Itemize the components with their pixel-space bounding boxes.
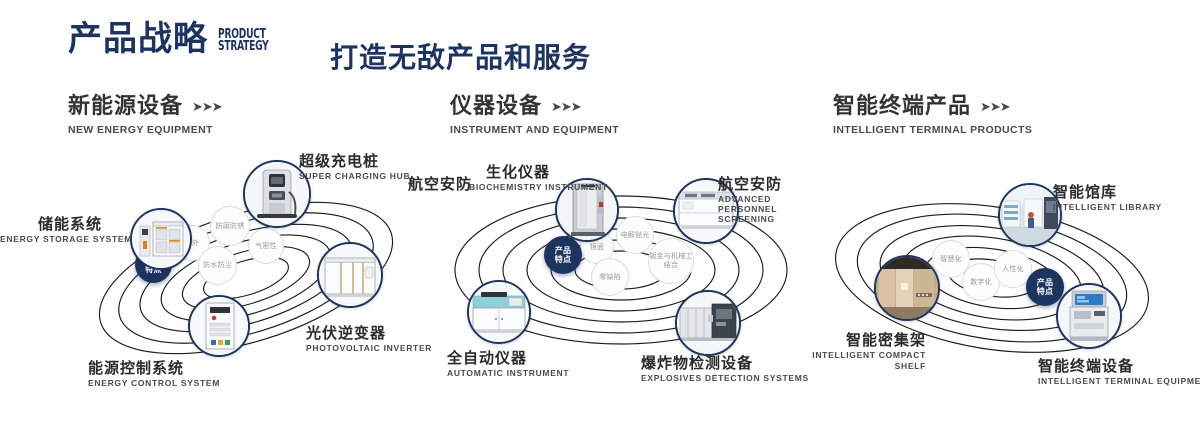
core-bubble-product-features: 产品特点 xyxy=(544,236,582,274)
terminal-kiosk-photo xyxy=(1058,285,1120,347)
section-heading-cn: 仪器设备 ➤➤➤ xyxy=(450,95,619,119)
battery-cabinet-photo xyxy=(132,210,190,268)
core-bubble-product-features: 产品特点 xyxy=(1026,268,1064,306)
node-explosives-detection-systems[interactable] xyxy=(675,290,741,356)
label-explosives-detection-systems: 爆炸物检测设备 EXPLOSIVES DETECTION SYSTEMS xyxy=(641,355,809,384)
label-en-line1: INTELLIGENT COMPACT xyxy=(808,350,926,361)
feature-bubble: 钣金与机械工结合 xyxy=(648,238,694,284)
section-heading-text: 仪器设备 xyxy=(450,95,542,119)
label-intelligent-compact-shelf: 智能密集架 INTELLIGENT COMPACT SHELF xyxy=(808,332,926,372)
label-cn: 生化仪器 xyxy=(469,164,567,181)
label-en: INTELLIGENT LIBRARY xyxy=(1053,202,1162,213)
label-cn: 智能馆库 xyxy=(1053,184,1162,201)
label-photovoltaic-inverter: 光伏逆变器 PHOTOVOLTAIC INVERTER xyxy=(306,325,432,354)
node-intelligent-compact-shelf[interactable] xyxy=(874,255,940,321)
core-bubble-label: 产品特点 xyxy=(1037,278,1053,297)
label-en: EXPLOSIVES DETECTION SYSTEMS xyxy=(641,373,809,384)
label-en: INTELLIGENT TERMINAL EQUIPMENT xyxy=(1038,376,1200,387)
product-strategy-infographic: 产品战略 PRODUCT STRATEGY 打造无敌产品和服务 新能源设备 ➤➤… xyxy=(0,0,1200,422)
label-cn: 智能终端设备 xyxy=(1038,358,1200,375)
section-heading-en: INSTRUMENT AND EQUIPMENT xyxy=(450,124,619,136)
feature-bubble-label: 防腐防锈 xyxy=(216,222,245,231)
label-en: ENERGY CONTROL SYSTEM xyxy=(88,378,220,389)
label-energy-storage-system: 储能系统 ENERGY STORAGE SYSTEM xyxy=(0,216,102,245)
label-en: SUPER CHARGING HUB xyxy=(299,171,410,182)
feature-bubble-label: 气密性 xyxy=(255,242,277,251)
label-en: ADVANCED PERSONNEL SCREENING xyxy=(718,194,822,224)
label-intelligent-terminal-equipment: 智能终端设备 INTELLIGENT TERMINAL EQUIPMENT xyxy=(1038,358,1200,387)
label-cn: 储能系统 xyxy=(0,216,102,233)
control-cabinet-photo xyxy=(190,297,248,355)
node-automatic-instrument[interactable] xyxy=(467,280,531,344)
automatic-analyzer-photo xyxy=(469,282,529,342)
label-cn: 航空安防 xyxy=(408,176,472,193)
label-en: PHOTOVOLTAIC INVERTER xyxy=(306,343,432,354)
label-en: AUTOMATIC INSTRUMENT xyxy=(447,368,569,379)
section-heading-cn: 新能源设备 ➤➤➤ xyxy=(68,95,222,119)
smart-library-photo xyxy=(1000,185,1060,245)
node-intelligent-terminal-equipment[interactable] xyxy=(1056,283,1122,349)
section-heading-en: INTELLIGENT TERMINAL PRODUCTS xyxy=(833,124,1032,136)
node-energy-storage-system[interactable] xyxy=(130,208,192,270)
label-cn: 智能密集架 xyxy=(808,332,926,349)
label-energy-control-system: 能源控制系统 ENERGY CONTROL SYSTEM xyxy=(88,360,220,389)
section-heading-instrument: 仪器设备 ➤➤➤ INSTRUMENT AND EQUIPMENT xyxy=(450,95,619,136)
label-automatic-instrument: 全自动仪器 AUTOMATIC INSTRUMENT xyxy=(447,350,569,379)
section-heading-text: 智能终端产品 xyxy=(833,95,971,119)
section-heading-terminal: 智能终端产品 ➤➤➤ INTELLIGENT TERMINAL PRODUCTS xyxy=(833,95,1032,136)
label-cn: 全自动仪器 xyxy=(447,350,569,367)
feature-bubble: 防水防尘 xyxy=(198,246,237,285)
chevron-right-icon: ➤➤➤ xyxy=(980,101,1010,114)
page-title-en: PRODUCT STRATEGY xyxy=(218,29,269,53)
label-cn: 超级充电桩 xyxy=(299,153,410,170)
label-en: BIOCHEMISTRY INSTRUMENT xyxy=(469,182,567,192)
feature-bubble: 防腐防锈 xyxy=(210,206,250,246)
page-slogan: 打造无敌产品和服务 xyxy=(330,36,591,76)
feature-bubble: 电解抛光 xyxy=(616,216,654,254)
core-bubble-label: 产品特点 xyxy=(555,246,571,265)
page-title-en-line2: STRATEGY xyxy=(218,41,269,53)
inverter-cabinet-photo xyxy=(319,244,381,306)
node-energy-control-system[interactable] xyxy=(188,295,250,357)
label-advanced-personnel-screening: 航空安防 ADVANCED PERSONNEL SCREENING xyxy=(718,176,822,224)
feature-bubble-label: 电解抛光 xyxy=(621,231,650,240)
label-cn: 光伏逆变器 xyxy=(306,325,432,342)
node-photovoltaic-inverter[interactable] xyxy=(317,242,383,308)
page-title-cn: 产品战略 xyxy=(68,22,208,56)
feature-bubble-label: 人性化 xyxy=(1002,265,1024,274)
chevron-right-icon: ➤➤➤ xyxy=(192,101,222,114)
feature-bubble-label: 镜面 xyxy=(590,243,604,252)
label-biochemistry-instrument: 生化仪器 BIOCHEMISTRY INSTRUMENT xyxy=(469,164,567,192)
feature-bubble-label: 智慧化 xyxy=(940,255,962,264)
compact-shelf-photo xyxy=(876,257,938,319)
section-heading-cn: 智能终端产品 ➤➤➤ xyxy=(833,95,1032,119)
section-heading-new-energy: 新能源设备 ➤➤➤ NEW ENERGY EQUIPMENT xyxy=(68,95,222,136)
label-en: ENERGY STORAGE SYSTEM xyxy=(0,234,102,245)
feature-bubble: 零缺陷 xyxy=(591,258,629,296)
section-heading-en: NEW ENERGY EQUIPMENT xyxy=(68,124,222,136)
feature-bubble-label: 零缺陷 xyxy=(599,273,621,282)
explosives-detector-photo xyxy=(677,292,739,354)
label-super-charging-hub: 超级充电桩 SUPER CHARGING HUB xyxy=(299,153,410,182)
label-cn: 爆炸物检测设备 xyxy=(641,355,809,372)
page-title: 产品战略 PRODUCT STRATEGY xyxy=(68,22,283,56)
feature-bubble: 气密性 xyxy=(248,228,284,264)
chevron-right-icon: ➤➤➤ xyxy=(551,101,581,114)
feature-bubble-label: 防水防尘 xyxy=(203,261,232,270)
label-intelligent-library: 智能馆库 INTELLIGENT LIBRARY xyxy=(1053,184,1162,213)
label-en-line2: SHELF xyxy=(808,361,926,372)
label-cn: 航空安防 xyxy=(718,176,822,193)
label-cn: 能源控制系统 xyxy=(88,360,220,377)
label-aviation-security-left: 航空安防 xyxy=(408,176,472,193)
section-heading-text: 新能源设备 xyxy=(68,95,183,119)
feature-bubble-label: 钣金与机械工结合 xyxy=(649,252,693,270)
feature-bubble-label: 数字化 xyxy=(970,278,992,287)
